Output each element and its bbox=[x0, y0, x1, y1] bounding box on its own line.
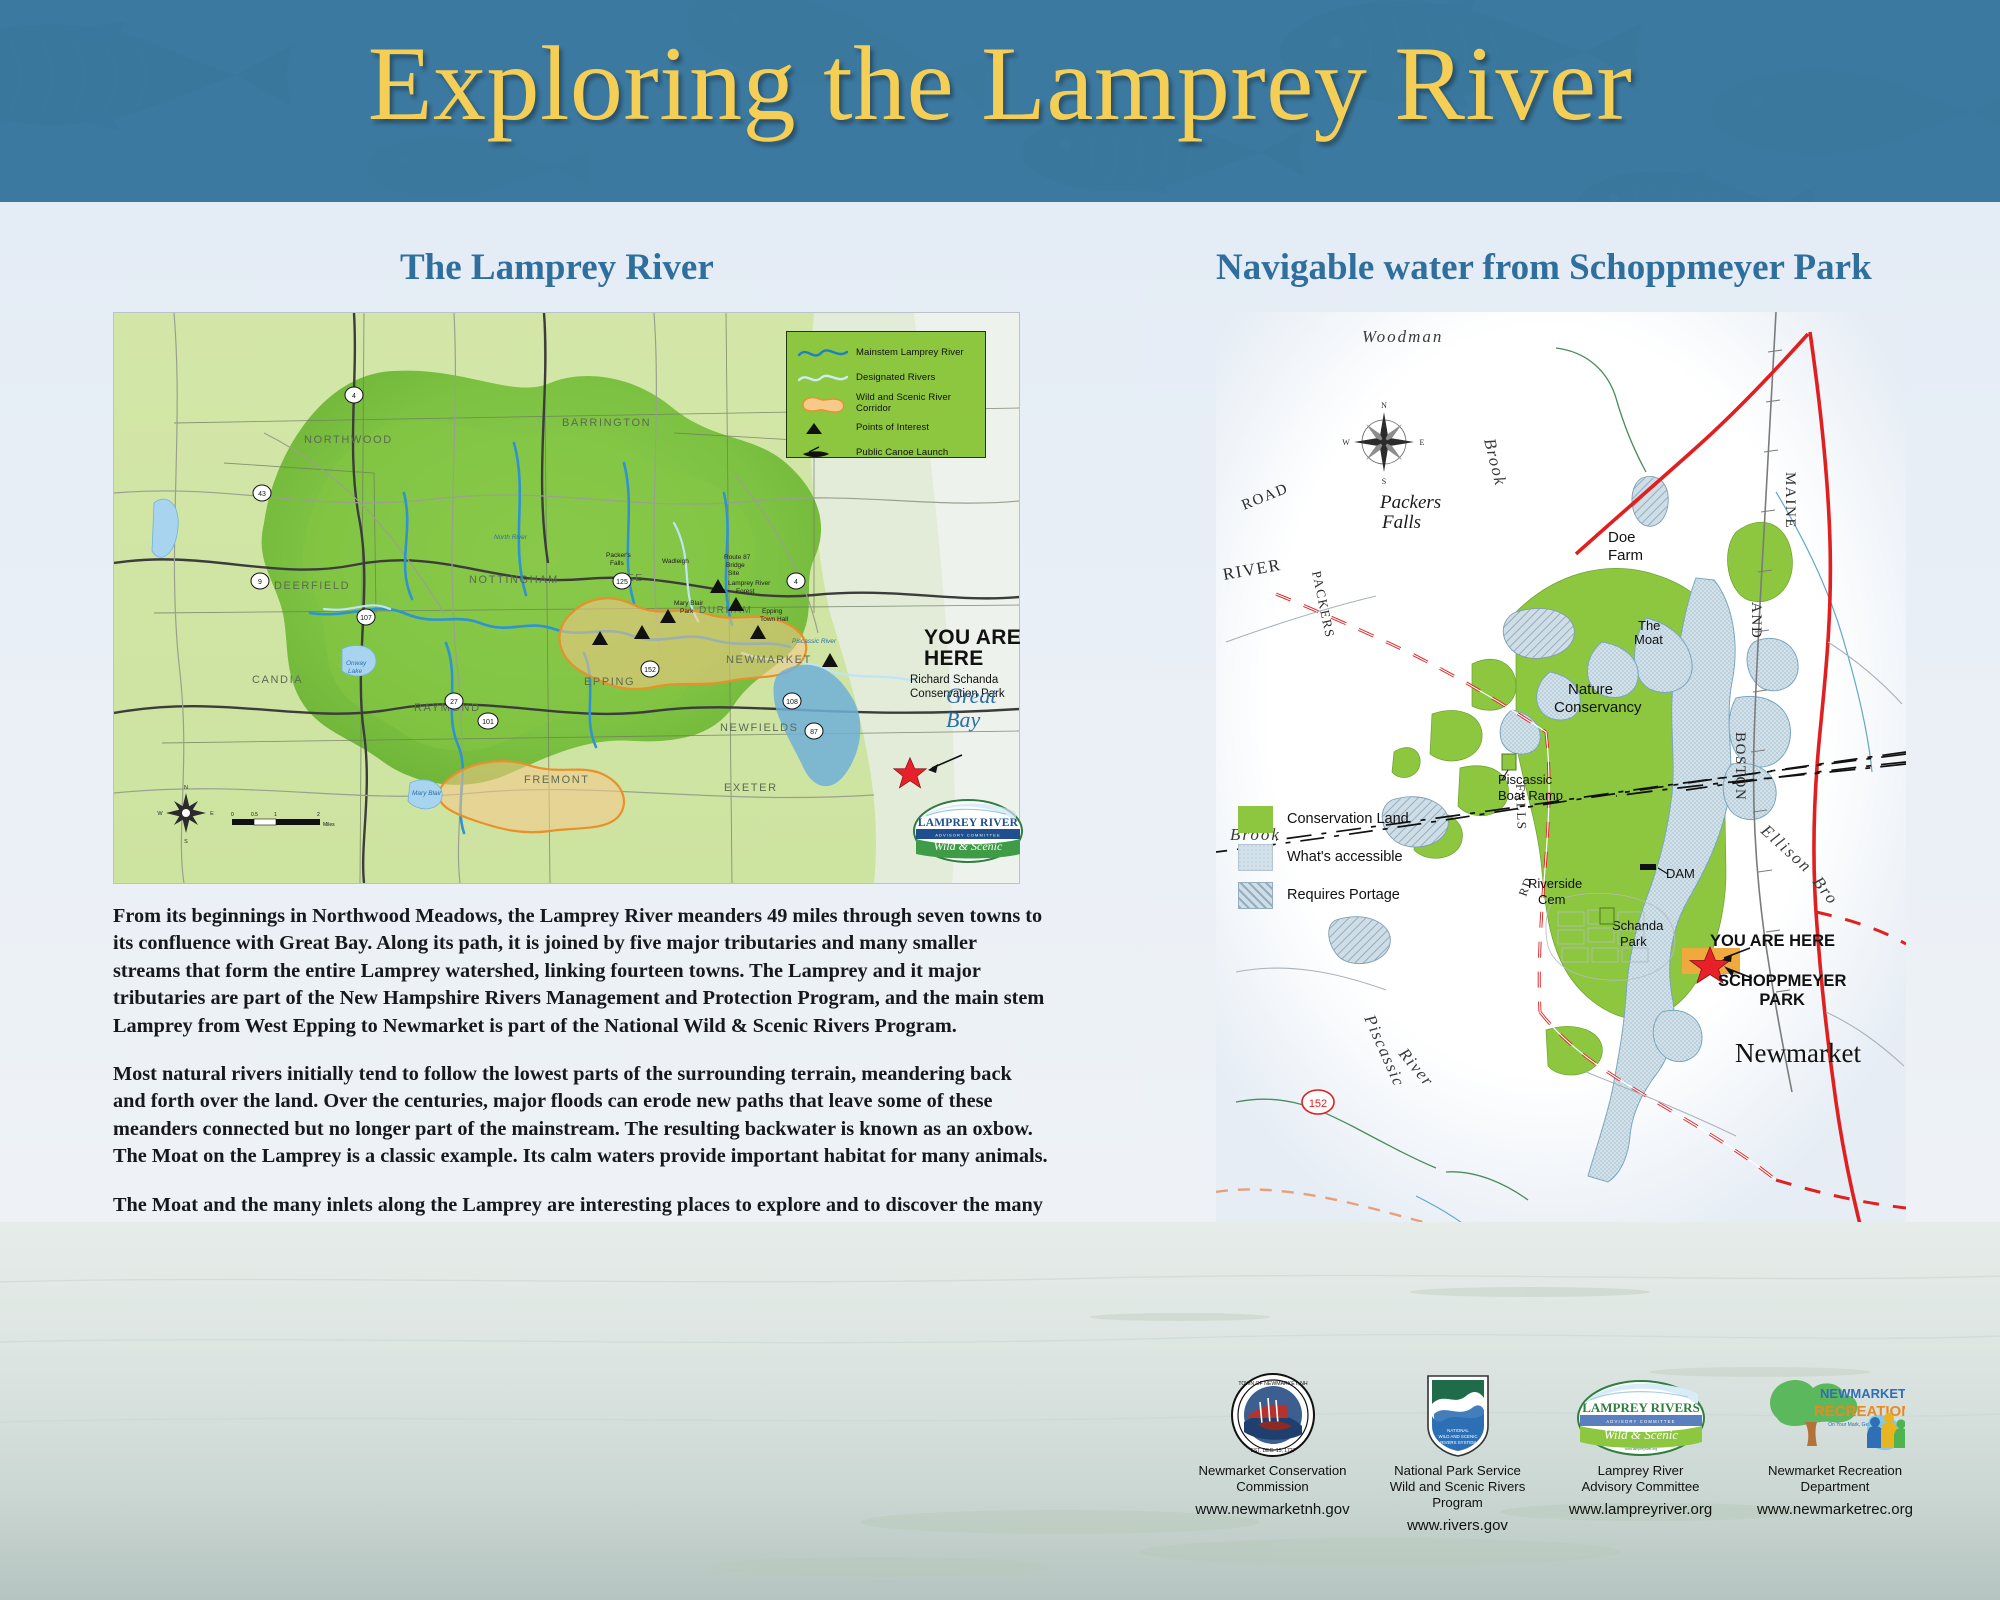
svg-text:125: 125 bbox=[616, 579, 628, 586]
partner-caption: National Park Service Wild and Scenic Ri… bbox=[1370, 1463, 1545, 1511]
legend-item-canoe: Public Canoe Launch bbox=[797, 441, 977, 464]
caption-line2: Advisory Committee bbox=[1553, 1479, 1728, 1495]
schoppmeyer-line2: PARK bbox=[1718, 991, 1846, 1010]
svg-text:Route 87: Route 87 bbox=[724, 554, 751, 561]
svg-text:ADVISORY COMMITTEE: ADVISORY COMMITTEE bbox=[935, 833, 1000, 838]
svg-text:4: 4 bbox=[352, 393, 356, 400]
svg-text:TOWN OF NEWMARKET, NH: TOWN OF NEWMARKET, NH bbox=[1238, 1381, 1308, 1387]
svg-text:108: 108 bbox=[786, 699, 798, 706]
svg-text:Site: Site bbox=[728, 570, 740, 577]
svg-text:Schanda: Schanda bbox=[1612, 918, 1664, 933]
you-are-here-label-watershed: YOU ARE HERE bbox=[924, 627, 1021, 670]
partner-national-park-service: NATIONAL WILD AND SCENIC RIVERS SYSTEM N… bbox=[1370, 1370, 1545, 1534]
svg-text:NORTHWOOD: NORTHWOOD bbox=[304, 434, 393, 446]
svg-text:101: 101 bbox=[482, 719, 494, 726]
svg-text:W: W bbox=[1342, 438, 1350, 447]
svg-text:Lamprey River: Lamprey River bbox=[728, 580, 771, 587]
lamprey-river-wild-scenic-logo: LAMPREY RIVER ADVISORY COMMITTEE Wild & … bbox=[912, 798, 1024, 869]
caption-line1: Lamprey River bbox=[1553, 1463, 1728, 1479]
svg-text:RIVERS SYSTEM: RIVERS SYSTEM bbox=[1440, 1440, 1476, 1445]
paragraph-1: From its beginnings in Northwood Meadows… bbox=[113, 903, 1048, 1040]
svg-text:Packers: Packers bbox=[1379, 492, 1441, 513]
svg-text:Farm: Farm bbox=[1608, 547, 1643, 564]
svg-text:43: 43 bbox=[258, 491, 266, 498]
local-map-legend: Conservation Land What's accessible Requ… bbox=[1238, 800, 1409, 914]
great-bay-line1: Great bbox=[946, 684, 997, 708]
svg-text:87: 87 bbox=[810, 729, 818, 736]
svg-text:27: 27 bbox=[450, 699, 458, 706]
partner-logo-row: TOWN OF NEWMARKET, NH EST. DEC. 15, 1727… bbox=[1215, 1370, 1915, 1560]
svg-text:LAMPREY RIVER: LAMPREY RIVER bbox=[918, 817, 1019, 829]
svg-text:Wild & Scenic: Wild & Scenic bbox=[1603, 1427, 1678, 1442]
svg-text:1: 1 bbox=[274, 812, 277, 818]
svg-text:Falls: Falls bbox=[1381, 512, 1421, 533]
wild-scenic-corridor-icon bbox=[797, 393, 849, 413]
svg-text:Packer's: Packer's bbox=[606, 552, 631, 559]
svg-text:BARRINGTON: BARRINGTON bbox=[562, 417, 651, 429]
svg-text:9: 9 bbox=[258, 579, 262, 586]
partner-url[interactable]: www.lampreyriver.org bbox=[1553, 1501, 1728, 1518]
section-heading-navigable-water: Navigable water from Schoppmeyer Park bbox=[1216, 246, 1872, 289]
caption-line1: Newmarket Recreation bbox=[1735, 1463, 1935, 1479]
legend-label: Requires Portage bbox=[1273, 887, 1400, 903]
legend-label: What's accessible bbox=[1273, 849, 1403, 865]
svg-text:NEWFIELDS: NEWFIELDS bbox=[720, 722, 799, 734]
panel-title: Exploring the Lamprey River bbox=[0, 28, 2000, 139]
svg-text:Miles: Miles bbox=[323, 822, 335, 828]
svg-text:S: S bbox=[184, 839, 188, 845]
watershed-map-legend: Mainstem Lamprey River Designated Rivers… bbox=[786, 331, 986, 458]
legend-label: Points of Interest bbox=[849, 422, 929, 433]
svg-text:107: 107 bbox=[360, 615, 372, 622]
caption-line1: Newmarket Conservation bbox=[1185, 1463, 1360, 1479]
partner-caption: Newmarket Recreation Department bbox=[1735, 1463, 1935, 1495]
caption-line1: National Park Service bbox=[1370, 1463, 1545, 1479]
public-canoe-launch-icon bbox=[797, 443, 849, 463]
svg-text:Wild & Scenic: Wild & Scenic bbox=[934, 839, 1003, 853]
legend-item-mainstem: Mainstem Lamprey River bbox=[797, 341, 977, 364]
svg-text:W: W bbox=[157, 811, 163, 817]
legend-label: Public Canoe Launch bbox=[849, 447, 948, 458]
svg-text:ADVISORY COMMITTEE: ADVISORY COMMITTEE bbox=[1606, 1419, 1675, 1424]
points-of-interest-icon bbox=[797, 418, 849, 438]
svg-text:N: N bbox=[1381, 401, 1387, 410]
legend-item-portage: Requires Portage bbox=[1238, 876, 1409, 914]
svg-text:Conservancy: Conservancy bbox=[1554, 699, 1642, 716]
svg-text:Onway: Onway bbox=[346, 660, 367, 667]
svg-text:Park: Park bbox=[680, 608, 694, 615]
legend-item-accessible: What's accessible bbox=[1238, 838, 1409, 876]
interpretive-panel: Exploring the Lamprey River The Lamprey … bbox=[0, 0, 2000, 1600]
caption-line2: Wild and Scenic Rivers Program bbox=[1370, 1479, 1545, 1511]
svg-text:N: N bbox=[184, 785, 188, 791]
svg-text:Piscassic River: Piscassic River bbox=[792, 638, 837, 645]
schoppmeyer-line1: SCHOPPMEYER bbox=[1718, 972, 1846, 991]
svg-text:NEWMARKET: NEWMARKET bbox=[726, 654, 812, 666]
svg-text:2: 2 bbox=[317, 812, 320, 818]
svg-text:NATIONAL: NATIONAL bbox=[1447, 1428, 1469, 1433]
svg-text:EST. DEC. 15, 1727: EST. DEC. 15, 1727 bbox=[1250, 1448, 1295, 1454]
great-bay-label: Great Bay bbox=[946, 684, 997, 732]
svg-text:WILD AND SCENIC: WILD AND SCENIC bbox=[1438, 1434, 1477, 1439]
svg-text:Bridge: Bridge bbox=[726, 562, 745, 569]
svg-text:Nature: Nature bbox=[1568, 681, 1613, 698]
local-map-graphic: NSWE Woodman Brook Brook Ellison Bro Pis… bbox=[1216, 312, 1906, 1240]
svg-text:Forest: Forest bbox=[736, 588, 755, 595]
svg-text:E: E bbox=[210, 811, 214, 817]
panel-header: Exploring the Lamprey River bbox=[0, 0, 2000, 202]
svg-text:www.lampreyriver.org: www.lampreyriver.org bbox=[1624, 1447, 1657, 1451]
you-are-here-line1: YOU ARE bbox=[924, 627, 1021, 648]
svg-text:4: 4 bbox=[794, 579, 798, 586]
partner-caption: Newmarket Conservation Commission bbox=[1185, 1463, 1360, 1495]
legend-item-designated: Designated Rivers bbox=[797, 366, 977, 389]
partner-caption: Lamprey River Advisory Committee bbox=[1553, 1463, 1728, 1495]
legend-label: Designated Rivers bbox=[849, 372, 935, 383]
mainstem-river-icon bbox=[797, 343, 849, 363]
paragraph-2: Most natural rivers initially tend to fo… bbox=[113, 1061, 1048, 1171]
svg-text:Falls: Falls bbox=[610, 560, 624, 567]
svg-text:Woodman: Woodman bbox=[1362, 327, 1443, 346]
local-navigation-map: NSWE Woodman Brook Brook Ellison Bro Pis… bbox=[1216, 312, 1906, 1240]
svg-text:LAMPREY RIVERS: LAMPREY RIVERS bbox=[1582, 1400, 1700, 1415]
legend-item-poi: Points of Interest bbox=[797, 416, 977, 439]
legend-label: Wild and Scenic River Corridor bbox=[849, 392, 977, 414]
partner-url[interactable]: www.newmarketrec.org bbox=[1735, 1501, 1935, 1518]
svg-text:0: 0 bbox=[231, 812, 234, 818]
caption-line2: Commission bbox=[1185, 1479, 1360, 1495]
svg-text:BOSTON: BOSTON bbox=[1732, 732, 1748, 801]
svg-text:Mary Blair: Mary Blair bbox=[674, 600, 704, 607]
partner-newmarket-conservation-commission: TOWN OF NEWMARKET, NH EST. DEC. 15, 1727… bbox=[1185, 1370, 1360, 1518]
svg-text:DAM: DAM bbox=[1666, 866, 1695, 881]
partner-newmarket-recreation-department: NEWMARKET RECREATION On Your Mark, Get R… bbox=[1735, 1370, 1935, 1518]
svg-text:Lake: Lake bbox=[348, 668, 362, 675]
partner-url[interactable]: www.rivers.gov bbox=[1370, 1517, 1545, 1534]
svg-text:NOTTINGHAM: NOTTINGHAM bbox=[469, 574, 559, 586]
schoppmeyer-park-label: SCHOPPMEYER PARK bbox=[1718, 972, 1846, 1010]
svg-text:The: The bbox=[1638, 618, 1660, 633]
svg-text:Park: Park bbox=[1620, 934, 1647, 949]
partner-url[interactable]: www.newmarketnh.gov bbox=[1185, 1501, 1360, 1518]
svg-text:Moat: Moat bbox=[1634, 632, 1663, 647]
svg-text:S: S bbox=[1382, 477, 1386, 486]
you-are-here-line2: HERE bbox=[924, 648, 1021, 669]
svg-text:Mary Blair: Mary Blair bbox=[412, 790, 442, 797]
newmarket-recreation-icon: NEWMARKET RECREATION On Your Mark, Get R… bbox=[1735, 1370, 1935, 1458]
conservation-land-swatch bbox=[1238, 806, 1273, 833]
legend-item-corridor: Wild and Scenic River Corridor bbox=[797, 391, 977, 414]
newmarket-town-label: Newmarket bbox=[1735, 1038, 1861, 1069]
svg-text:Doe: Doe bbox=[1608, 529, 1636, 546]
svg-text:DURHAM: DURHAM bbox=[699, 605, 753, 616]
svg-text:Town Hall: Town Hall bbox=[760, 616, 789, 623]
caption-line2: Department bbox=[1735, 1479, 1935, 1495]
great-bay-line2: Bay bbox=[946, 708, 997, 732]
svg-text:North River: North River bbox=[494, 534, 528, 541]
svg-text:Cem: Cem bbox=[1538, 892, 1565, 907]
svg-text:NEWMARKET: NEWMARKET bbox=[1820, 1386, 1905, 1401]
svg-text:Boat Ramp: Boat Ramp bbox=[1498, 788, 1563, 803]
svg-text:CANDIA: CANDIA bbox=[252, 674, 303, 686]
svg-text:Piscassic: Piscassic bbox=[1498, 772, 1553, 787]
accessible-water-swatch bbox=[1238, 844, 1273, 871]
town-seal-icon: TOWN OF NEWMARKET, NH EST. DEC. 15, 1727 bbox=[1185, 1370, 1360, 1458]
svg-text:EPPING: EPPING bbox=[584, 676, 635, 688]
svg-text:EXETER: EXETER bbox=[724, 782, 778, 794]
svg-text:Riverside: Riverside bbox=[1528, 876, 1582, 891]
nps-wild-scenic-shield-icon: NATIONAL WILD AND SCENIC RIVERS SYSTEM bbox=[1370, 1370, 1545, 1458]
svg-text:DEERFIELD: DEERFIELD bbox=[274, 580, 350, 592]
svg-text:AND: AND bbox=[1748, 602, 1764, 639]
svg-text:152: 152 bbox=[644, 667, 656, 674]
you-are-here-label-local: YOU ARE HERE bbox=[1710, 932, 1835, 951]
svg-text:MAINE: MAINE bbox=[1782, 472, 1798, 529]
legend-label: Mainstem Lamprey River bbox=[849, 347, 964, 358]
section-heading-lamprey-river: The Lamprey River bbox=[400, 246, 714, 289]
svg-text:152: 152 bbox=[1309, 1098, 1327, 1110]
svg-text:Wadleigh: Wadleigh bbox=[662, 558, 689, 565]
legend-item-conservation-land: Conservation Land bbox=[1238, 800, 1409, 838]
designated-rivers-icon bbox=[797, 368, 849, 388]
svg-text:E: E bbox=[1420, 438, 1425, 447]
lamprey-rivers-oval-icon: LAMPREY RIVERS ADVISORY COMMITTEE Wild &… bbox=[1553, 1370, 1728, 1458]
svg-text:0.5: 0.5 bbox=[251, 812, 258, 818]
svg-text:FREMONT: FREMONT bbox=[524, 774, 590, 786]
legend-label: Conservation Land bbox=[1273, 811, 1409, 827]
requires-portage-swatch bbox=[1238, 882, 1273, 909]
svg-text:Epping: Epping bbox=[762, 608, 783, 615]
partner-lamprey-river-advisory-committee: LAMPREY RIVERS ADVISORY COMMITTEE Wild &… bbox=[1553, 1370, 1728, 1518]
